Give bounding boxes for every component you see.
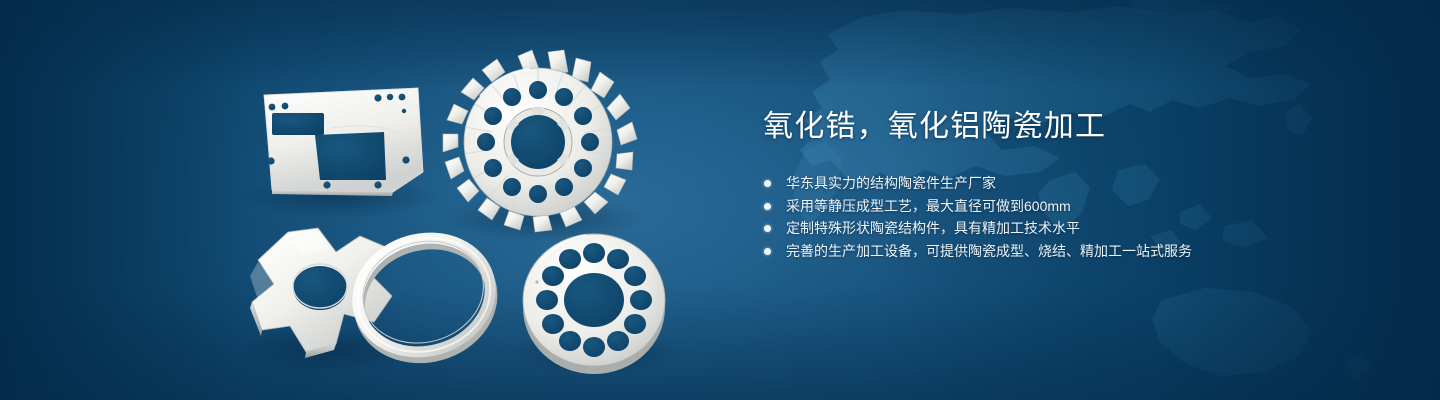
list-item: 采用等静压成型工艺，最大直径可做到600mm <box>763 195 1383 218</box>
banner-content: 氧化锆，氧化铝陶瓷加工 华东具实力的结构陶瓷件生产厂家 采用等静压成型工艺，最大… <box>763 108 1383 262</box>
list-item-label: 完善的生产加工设备，可提供陶瓷成型、烧结、精加工一站式服务 <box>786 243 1192 259</box>
ceramic-products-image <box>0 0 760 400</box>
list-item-label: 华东具实力的结构陶瓷件生产厂家 <box>786 175 996 191</box>
bullet-dot-icon <box>764 248 771 255</box>
list-item: 华东具实力的结构陶瓷件生产厂家 <box>763 172 1383 195</box>
bullet-dot-icon <box>764 180 771 187</box>
bullet-dot-icon <box>764 225 771 232</box>
page-title: 氧化锆，氧化铝陶瓷加工 <box>763 108 1383 146</box>
promo-banner: 氧化锆，氧化铝陶瓷加工 华东具实力的结构陶瓷件生产厂家 采用等静压成型工艺，最大… <box>0 0 1440 400</box>
list-item-label: 定制特殊形状陶瓷结构件，具有精加工技术水平 <box>786 220 1080 236</box>
ceramic-flange-ring <box>523 234 665 374</box>
ceramic-machined-plate <box>264 88 423 196</box>
list-item: 定制特殊形状陶瓷结构件，具有精加工技术水平 <box>763 217 1383 240</box>
bullet-dot-icon <box>764 203 771 210</box>
feature-list: 华东具实力的结构陶瓷件生产厂家 采用等静压成型工艺，最大直径可做到600mm 定… <box>763 172 1383 262</box>
list-item: 完善的生产加工设备，可提供陶瓷成型、烧结、精加工一站式服务 <box>763 240 1383 263</box>
list-item-label: 采用等静压成型工艺，最大直径可做到600mm <box>786 198 1071 214</box>
